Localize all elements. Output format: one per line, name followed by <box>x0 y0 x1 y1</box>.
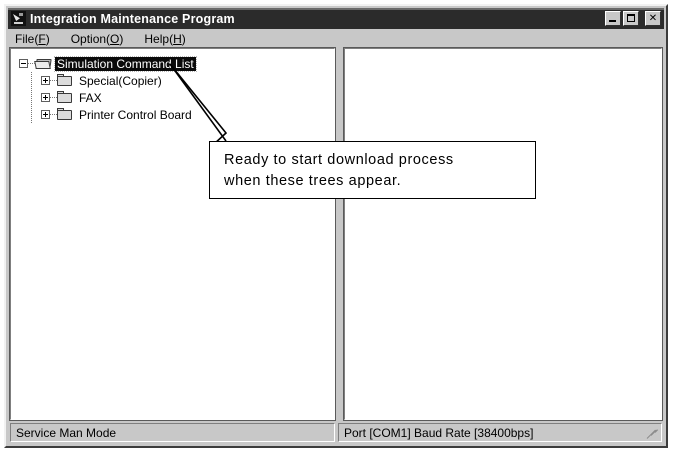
close-button[interactable]: ✕ <box>645 11 661 26</box>
folder-open-icon <box>35 57 51 70</box>
folder-closed-icon <box>57 91 73 104</box>
folder-closed-icon <box>57 74 73 87</box>
tree-node-root[interactable]: Simulation Command List <box>19 55 334 72</box>
close-icon: ✕ <box>649 14 657 24</box>
application-window: Integration Maintenance Program ✕ File(F… <box>4 4 668 448</box>
tree-node-label-fax[interactable]: FAX <box>77 91 104 105</box>
expand-toggle-icon[interactable] <box>41 76 50 85</box>
status-bar: Service Man Mode Port [COM1] Baud Rate [… <box>10 423 662 442</box>
tree-node-special-copier[interactable]: Special(Copier) <box>41 72 334 89</box>
callout-line-2: when these trees appear. <box>224 171 535 192</box>
tree-connector <box>50 80 57 81</box>
tree-node-label-printer-control-board[interactable]: Printer Control Board <box>77 108 194 122</box>
folder-closed-icon <box>57 108 73 121</box>
client-area: Simulation Command List Special(Copier) <box>10 48 662 420</box>
collapse-toggle-icon[interactable] <box>19 59 28 68</box>
detail-panel[interactable] <box>344 48 662 420</box>
resize-grip[interactable] <box>646 427 659 440</box>
menu-item-file[interactable]: File(F) <box>13 31 52 47</box>
menu-item-option[interactable]: Option(O) <box>69 31 126 47</box>
menu-bar: File(F) Option(O) Help(H) <box>6 29 666 48</box>
title-bar[interactable]: Integration Maintenance Program ✕ <box>8 8 664 29</box>
tree-node-printer-control-board[interactable]: Printer Control Board <box>41 106 334 123</box>
annotation-callout: Ready to start download process when the… <box>209 141 536 199</box>
tree-view[interactable]: Simulation Command List Special(Copier) <box>11 49 334 123</box>
menu-item-help[interactable]: Help(H) <box>142 31 187 47</box>
tree-node-fax[interactable]: FAX <box>41 89 334 106</box>
expand-toggle-icon[interactable] <box>41 110 50 119</box>
tree-node-label-root[interactable]: Simulation Command List <box>55 57 196 71</box>
pane-splitter[interactable] <box>335 48 344 420</box>
tree-connector <box>50 114 57 115</box>
status-mode-panel: Service Man Mode <box>10 423 335 442</box>
status-port-panel: Port [COM1] Baud Rate [38400bps] <box>338 423 662 442</box>
expand-toggle-icon[interactable] <box>41 93 50 102</box>
window-title: Integration Maintenance Program <box>30 12 605 26</box>
status-port-text: Port [COM1] Baud Rate [38400bps] <box>344 426 533 440</box>
minimize-button[interactable] <box>605 11 621 26</box>
maximize-button[interactable] <box>623 11 639 26</box>
window-controls: ✕ <box>605 11 661 26</box>
app-icon[interactable] <box>11 11 26 26</box>
tree-panel[interactable]: Simulation Command List Special(Copier) <box>10 48 335 420</box>
tree-node-label-special-copier[interactable]: Special(Copier) <box>77 74 164 88</box>
tree-connector <box>50 97 57 98</box>
callout-line-1: Ready to start download process <box>224 150 535 171</box>
status-mode-text: Service Man Mode <box>16 426 116 440</box>
